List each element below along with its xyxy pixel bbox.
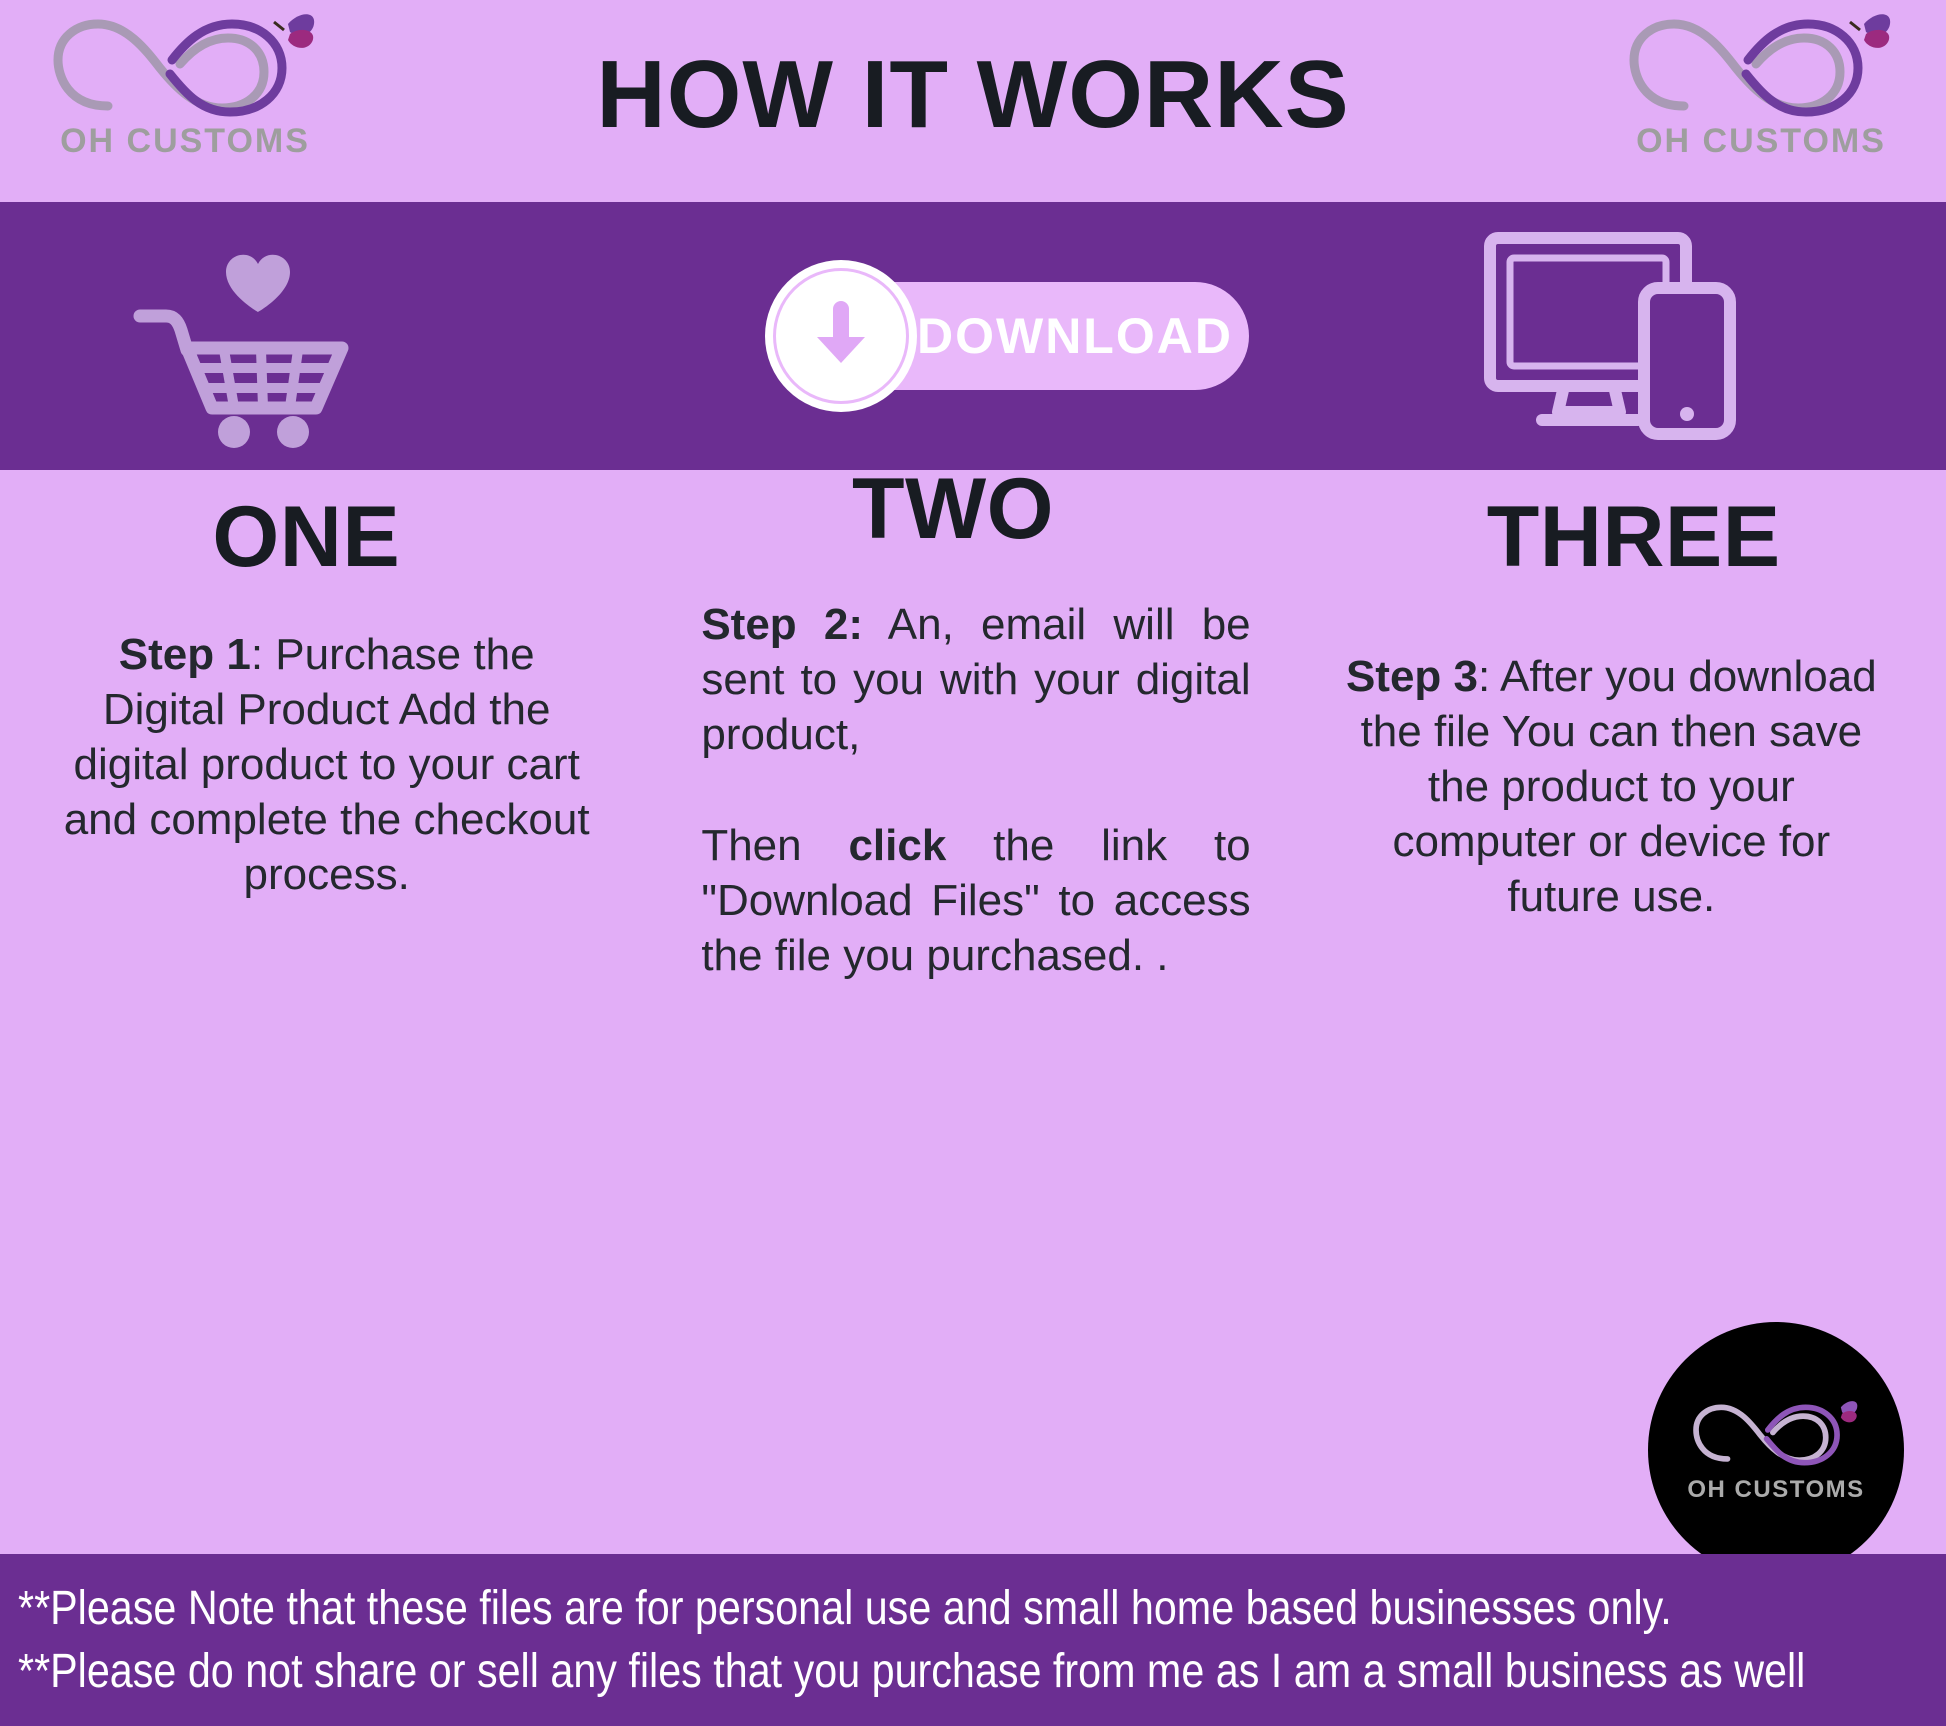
band-cell-three xyxy=(1314,202,1946,470)
step-word-one: ONE xyxy=(0,488,631,587)
infographic-poster: OH CUSTOMS HOW IT WORKS OH CUSTOMS xyxy=(0,0,1946,1726)
page-title: HOW IT WORKS xyxy=(596,47,1349,155)
step-word-cell-two: TWO xyxy=(649,488,1298,587)
step-one-text: Step 1: Purchase the Digital Product Add… xyxy=(52,627,601,902)
download-circle[interactable] xyxy=(765,260,917,412)
step-two-tail: . xyxy=(1144,931,1168,980)
butterfly-icon xyxy=(1850,14,1890,48)
step-one-label: Step 1 xyxy=(119,630,251,679)
step-three-separator: : xyxy=(1478,652,1490,701)
band-cell-two: DOWNLOAD xyxy=(722,202,1314,470)
header: OH CUSTOMS HOW IT WORKS OH CUSTOMS xyxy=(0,0,1946,202)
download-button[interactable]: DOWNLOAD xyxy=(787,282,1249,390)
step-column-three: Step 3: After you download the file You … xyxy=(1301,587,1946,983)
badge-wordmark: OH CUSTOMS xyxy=(1687,1476,1864,1504)
logo-wordmark: OH CUSTOMS xyxy=(60,122,310,161)
infinity-logo-icon xyxy=(1691,1396,1861,1474)
step-two-text: Step 2: An, email will be sent to you wi… xyxy=(701,597,1250,762)
step-column-one: Step 1: Purchase the Digital Product Add… xyxy=(0,587,639,983)
icon-band: DOWNLOAD xyxy=(0,202,1946,470)
butterfly-icon xyxy=(274,14,314,48)
footer-notes: **Please Note that these files are for p… xyxy=(0,1554,1946,1726)
brand-badge: OH CUSTOMS xyxy=(1648,1322,1904,1578)
step-two-purchased-emphasis: you purchased. xyxy=(843,931,1144,980)
shopping-cart-heart-icon xyxy=(130,220,360,452)
download-arrow-icon xyxy=(805,293,877,379)
infinity-logo-icon xyxy=(1626,8,1896,128)
footer-note-2: **Please do not share or sell any files … xyxy=(18,1640,1676,1703)
step-two-lead: Then xyxy=(701,821,848,870)
monitor-tablet-icon xyxy=(1480,228,1740,444)
step-one-separator: : xyxy=(251,630,263,679)
footer-note-1: **Please Note that these files are for p… xyxy=(18,1577,1676,1640)
step-words-row: ONE TWO THREE xyxy=(0,470,1946,587)
step-two-text-2: Then click the link to "Download Files" … xyxy=(701,818,1250,983)
step-two-label: Step 2: xyxy=(701,600,863,649)
step-column-two: Step 2: An, email will be sent to you wi… xyxy=(639,587,1300,983)
paragraph-gap xyxy=(701,762,1250,818)
step-three-label: Step 3 xyxy=(1346,652,1478,701)
step-word-cell-three: THREE xyxy=(1297,488,1946,587)
step-word-two: TWO xyxy=(629,460,1278,559)
logo-wordmark: OH CUSTOMS xyxy=(1636,122,1886,161)
butterfly-icon xyxy=(1841,1401,1857,1422)
download-button-label: DOWNLOAD xyxy=(917,307,1233,365)
band-cell-one xyxy=(0,202,722,470)
steps-columns: Step 1: Purchase the Digital Product Add… xyxy=(0,587,1946,983)
infinity-logo-icon xyxy=(50,8,320,128)
step-two-click-emphasis: click xyxy=(848,821,946,870)
logo-right: OH CUSTOMS xyxy=(1606,8,1916,188)
step-word-three: THREE xyxy=(1309,488,1946,587)
step-three-text: Step 3: After you download the file You … xyxy=(1337,649,1886,924)
logo-left: OH CUSTOMS xyxy=(30,8,340,188)
step-word-cell-one: ONE xyxy=(0,488,649,587)
